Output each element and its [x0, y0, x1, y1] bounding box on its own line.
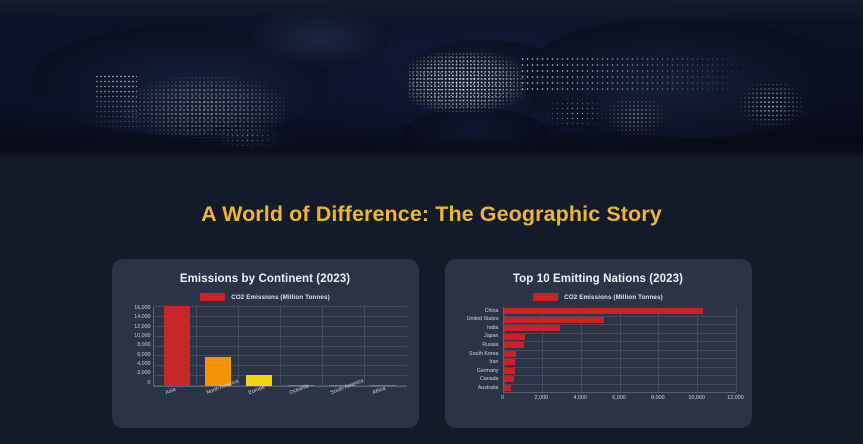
bar-row: [504, 325, 736, 331]
x-tick-label: 6,000: [612, 395, 626, 401]
y-tick-label: 12,000: [134, 325, 150, 330]
bar-row: [504, 376, 736, 382]
y-tick-label: Canada: [455, 377, 502, 382]
city-lights-middle-east: [540, 96, 610, 130]
y-tick-label: India: [455, 326, 502, 331]
bar-row: [504, 359, 736, 365]
bar-row: [504, 317, 736, 323]
bar-row: [504, 308, 736, 314]
banner-bottom-fade: [0, 136, 863, 160]
charts-row: Emissions by Continent (2023) CO2 Emissi…: [0, 259, 863, 428]
city-lights-europe: [408, 52, 538, 114]
y-tick-label: China: [455, 309, 502, 314]
y-tick-label: Russia: [455, 343, 502, 348]
horizontal-bar-chart: ChinaUnited StatesIndiaJapanRussiaSouth …: [455, 307, 742, 411]
city-lights-us-west-coast: [95, 74, 137, 130]
bars-group: [504, 307, 736, 392]
bar-row: [504, 351, 736, 357]
chart-legend-continent: CO2 Emissions (Million Tonnes): [122, 293, 409, 301]
y-tick-label: 6,000: [137, 353, 150, 358]
bar-canada[interactable]: [504, 376, 514, 382]
bar-china[interactable]: [504, 308, 703, 314]
chart-title-continent: Emissions by Continent (2023): [122, 273, 409, 285]
x-axis-ticks: 02,0004,0006,0008,00010,00012,000: [503, 395, 736, 407]
section-title: A World of Difference: The Geographic St…: [0, 202, 863, 227]
x-tick-label: 2,000: [535, 395, 549, 401]
bar-row: [504, 368, 736, 374]
city-lights-russia: [520, 56, 750, 94]
y-tick-label: 2,000: [137, 371, 150, 376]
bar-india[interactable]: [504, 325, 560, 331]
bar-row: [504, 334, 736, 340]
plot-area-continent: [153, 307, 407, 387]
bar-japan[interactable]: [504, 334, 525, 340]
page-root: A World of Difference: The Geographic St…: [0, 0, 863, 444]
bar-russia[interactable]: [504, 342, 524, 348]
chart-card-emissions-by-continent: Emissions by Continent (2023) CO2 Emissi…: [112, 259, 419, 428]
x-axis-category-labels: AsiaNorth AmericaEuropeOceaniaSouth Amer…: [153, 389, 407, 415]
y-axis-country-labels: ChinaUnited StatesIndiaJapanRussiaSouth …: [455, 307, 502, 393]
y-tick-label: Japan: [455, 334, 502, 339]
x-tick-label: 12,000: [727, 395, 744, 401]
y-axis-ticks: 16,00014,00012,00010,0008,0006,0004,0002…: [122, 307, 151, 387]
chart-legend-nations: CO2 Emissions (Million Tonnes): [455, 293, 742, 301]
vertical-bar-chart: 16,00014,00012,00010,0008,0006,0004,0002…: [122, 307, 409, 405]
y-tick-label: 0: [148, 381, 151, 386]
bar-row: [504, 385, 736, 391]
y-tick-label: 4,000: [137, 362, 150, 367]
bar-australia[interactable]: [504, 385, 511, 391]
legend-label-co2: CO2 Emissions (Million Tonnes): [564, 294, 663, 301]
gridline-vertical: [736, 307, 737, 392]
x-tick-label: 0: [501, 395, 504, 401]
bar-united-states[interactable]: [504, 317, 605, 323]
y-tick-label: South Korea: [455, 352, 502, 357]
y-tick-label: 14,000: [134, 315, 150, 320]
city-lights-india: [600, 96, 670, 140]
hero-banner-earth-at-night: [0, 0, 863, 160]
legend-swatch-co2: [200, 293, 225, 301]
bar-row: [504, 342, 736, 348]
legend-label-co2: CO2 Emissions (Million Tonnes): [231, 294, 330, 301]
x-tick-label: 4,000: [573, 395, 587, 401]
city-lights-east-asia: [735, 78, 815, 130]
chart-title-nations: Top 10 Emitting Nations (2023): [455, 273, 742, 285]
plot-area-nations: [503, 307, 736, 393]
bar-south-korea[interactable]: [504, 351, 517, 357]
x-tick-label: 10,000: [688, 395, 705, 401]
chart-card-top-emitting-nations: Top 10 Emitting Nations (2023) CO2 Emiss…: [445, 259, 752, 428]
y-tick-label: United States: [455, 317, 502, 322]
y-tick-label: 16,000: [134, 306, 150, 311]
y-tick-label: Germany: [455, 369, 502, 374]
bars-group: [154, 307, 407, 386]
bar-asia[interactable]: [164, 306, 190, 386]
legend-swatch-co2: [533, 293, 558, 301]
y-tick-label: Iran: [455, 360, 502, 365]
bar-germany[interactable]: [504, 368, 515, 374]
y-tick-label: 8,000: [137, 343, 150, 348]
x-tick-label: 8,000: [651, 395, 665, 401]
city-lights-united-states: [110, 72, 285, 138]
y-tick-label: 10,000: [134, 334, 150, 339]
banner-top-fade: [0, 0, 863, 26]
bar-iran[interactable]: [504, 359, 516, 365]
y-tick-label: Australia: [455, 386, 502, 391]
